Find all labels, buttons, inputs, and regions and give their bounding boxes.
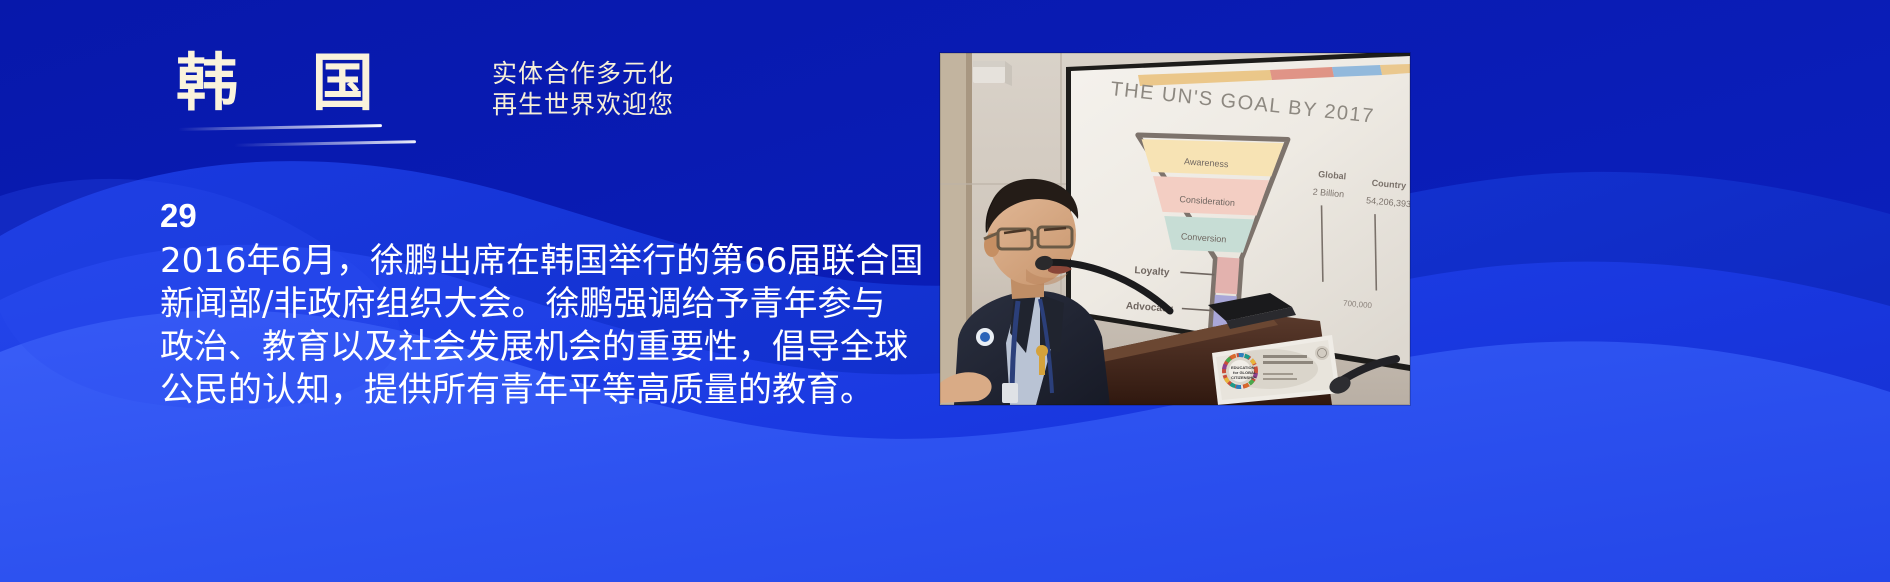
paragraph-line-1: 2016年6月，徐鹏出席在韩国举行的第66届联合国 xyxy=(160,240,920,283)
title-underline-1 xyxy=(178,124,382,131)
subtitle-line-1: 实体合作多元化 xyxy=(492,58,792,89)
slide-canvas: 韩 国 实体合作多元化 再生世界欢迎您 29 2016年6月，徐鹏出席在韩国举行… xyxy=(0,0,1890,582)
paragraph-line-2: 新闻部/非政府组织大会。徐鹏强调给予青年参与 xyxy=(160,283,920,326)
page-title: 韩 国 xyxy=(176,52,516,114)
conference-photo: THE UN'S GOAL BY 2017 xyxy=(940,53,1410,405)
svg-text:CITIZENSHIP: CITIZENSHIP xyxy=(1231,375,1256,380)
paragraph-line-4: 公民的认知，提供所有青年平等高质量的教育。 xyxy=(160,369,920,412)
body-block: 29 2016年6月，徐鹏出席在韩国举行的第66届联合国 新闻部/非政府组织大会… xyxy=(160,196,920,412)
item-number: 29 xyxy=(160,196,920,236)
wall-speaker-box xyxy=(973,61,1012,86)
photo-content: THE UN'S GOAL BY 2017 xyxy=(940,53,1410,405)
subtitle-block: 实体合作多元化 再生世界欢迎您 xyxy=(492,58,792,120)
title-block: 韩 国 xyxy=(176,52,516,162)
title-underline-2 xyxy=(234,140,416,146)
un-emblem xyxy=(1315,346,1329,360)
paragraph-line-3: 政治、教育以及社会发展机会的重要性，倡导全球 xyxy=(160,326,920,369)
subtitle-line-2: 再生世界欢迎您 xyxy=(492,89,792,120)
